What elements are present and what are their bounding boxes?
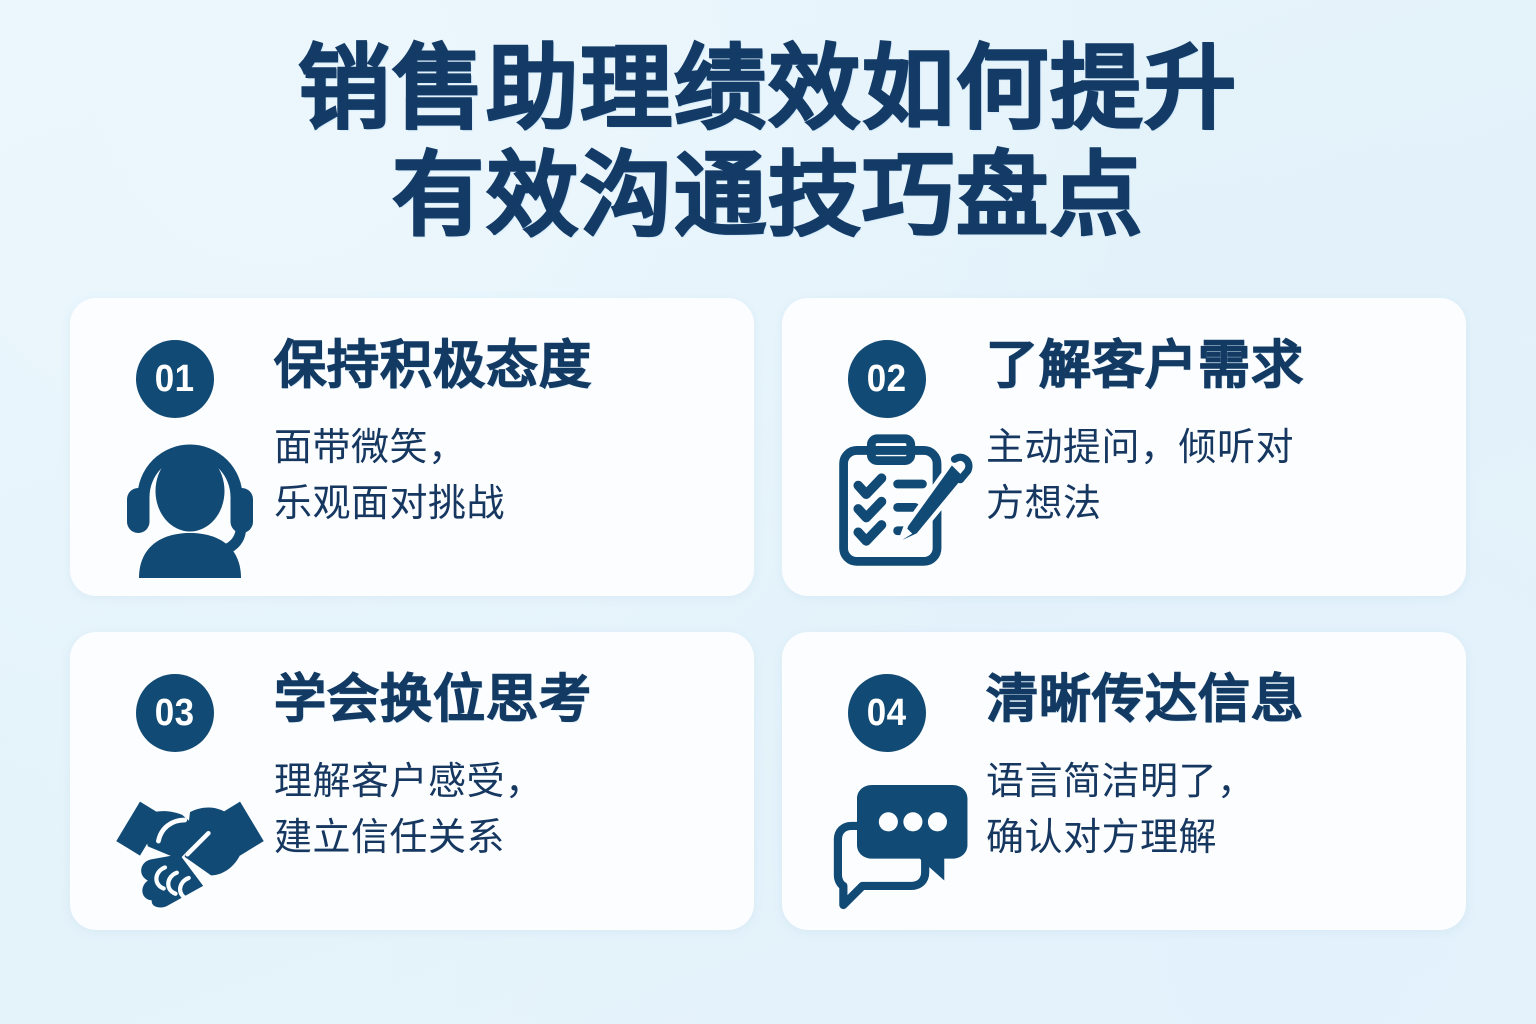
card-description: 语言简洁明了， 确认对方理解 bbox=[986, 754, 1406, 866]
step-badge-04: 04 bbox=[848, 674, 926, 752]
tip-card-03[interactable]: 03 学会换位思考 理解客户感受， 建立信任关系 bbox=[70, 632, 754, 930]
headset-agent-icon bbox=[110, 428, 270, 578]
clipboard-checklist-pen-icon bbox=[822, 428, 982, 578]
step-badge-03: 03 bbox=[136, 674, 214, 752]
card-description: 主动提问，倾听对 方想法 bbox=[986, 420, 1416, 532]
chat-bubbles-icon bbox=[822, 770, 982, 920]
card-description-line-1: 主动提问，倾听对 bbox=[986, 420, 1416, 476]
card-description-line-2: 建立信任关系 bbox=[274, 810, 694, 866]
card-description-line-1: 语言简洁明了， bbox=[986, 754, 1406, 810]
card-heading: 学会换位思考 bbox=[274, 672, 592, 728]
card-description-line-1: 面带微笑， bbox=[274, 420, 694, 476]
card-description-line-2: 乐观面对挑战 bbox=[274, 476, 694, 532]
poster-title: 销售助理绩效如何提升 有效沟通技巧盘点 bbox=[0, 36, 1536, 249]
infographic-poster: 销售助理绩效如何提升 有效沟通技巧盘点 01 保持积极态度 面带微笑， 乐观面对… bbox=[0, 0, 1536, 1024]
tips-grid: 01 保持积极态度 面带微笑， 乐观面对挑战 bbox=[70, 298, 1466, 958]
title-line-1: 销售助理绩效如何提升 bbox=[0, 36, 1536, 143]
card-heading: 清晰传达信息 bbox=[986, 672, 1304, 728]
tip-card-02[interactable]: 02 了解客户需求 主动提问，倾听对 方想法 bbox=[782, 298, 1466, 596]
card-description: 理解客户感受， 建立信任关系 bbox=[274, 754, 694, 866]
card-heading: 保持积极态度 bbox=[274, 338, 592, 394]
step-number: 03 bbox=[155, 694, 195, 732]
tip-card-04[interactable]: 04 清晰传达信息 语言简洁明了， 确认对方理解 bbox=[782, 632, 1466, 930]
handshake-icon bbox=[110, 774, 270, 924]
card-description-line-2: 确认对方理解 bbox=[986, 810, 1406, 866]
card-description: 面带微笑， 乐观面对挑战 bbox=[274, 420, 694, 532]
card-heading: 了解客户需求 bbox=[986, 338, 1304, 394]
card-description-line-1: 理解客户感受， bbox=[274, 754, 694, 810]
step-badge-02: 02 bbox=[848, 340, 926, 418]
step-number: 01 bbox=[155, 360, 195, 398]
card-description-line-2: 方想法 bbox=[986, 476, 1416, 532]
tip-card-01[interactable]: 01 保持积极态度 面带微笑， 乐观面对挑战 bbox=[70, 298, 754, 596]
step-number: 04 bbox=[867, 694, 907, 732]
step-number: 02 bbox=[867, 360, 907, 398]
title-line-2: 有效沟通技巧盘点 bbox=[0, 143, 1536, 250]
step-badge-01: 01 bbox=[136, 340, 214, 418]
